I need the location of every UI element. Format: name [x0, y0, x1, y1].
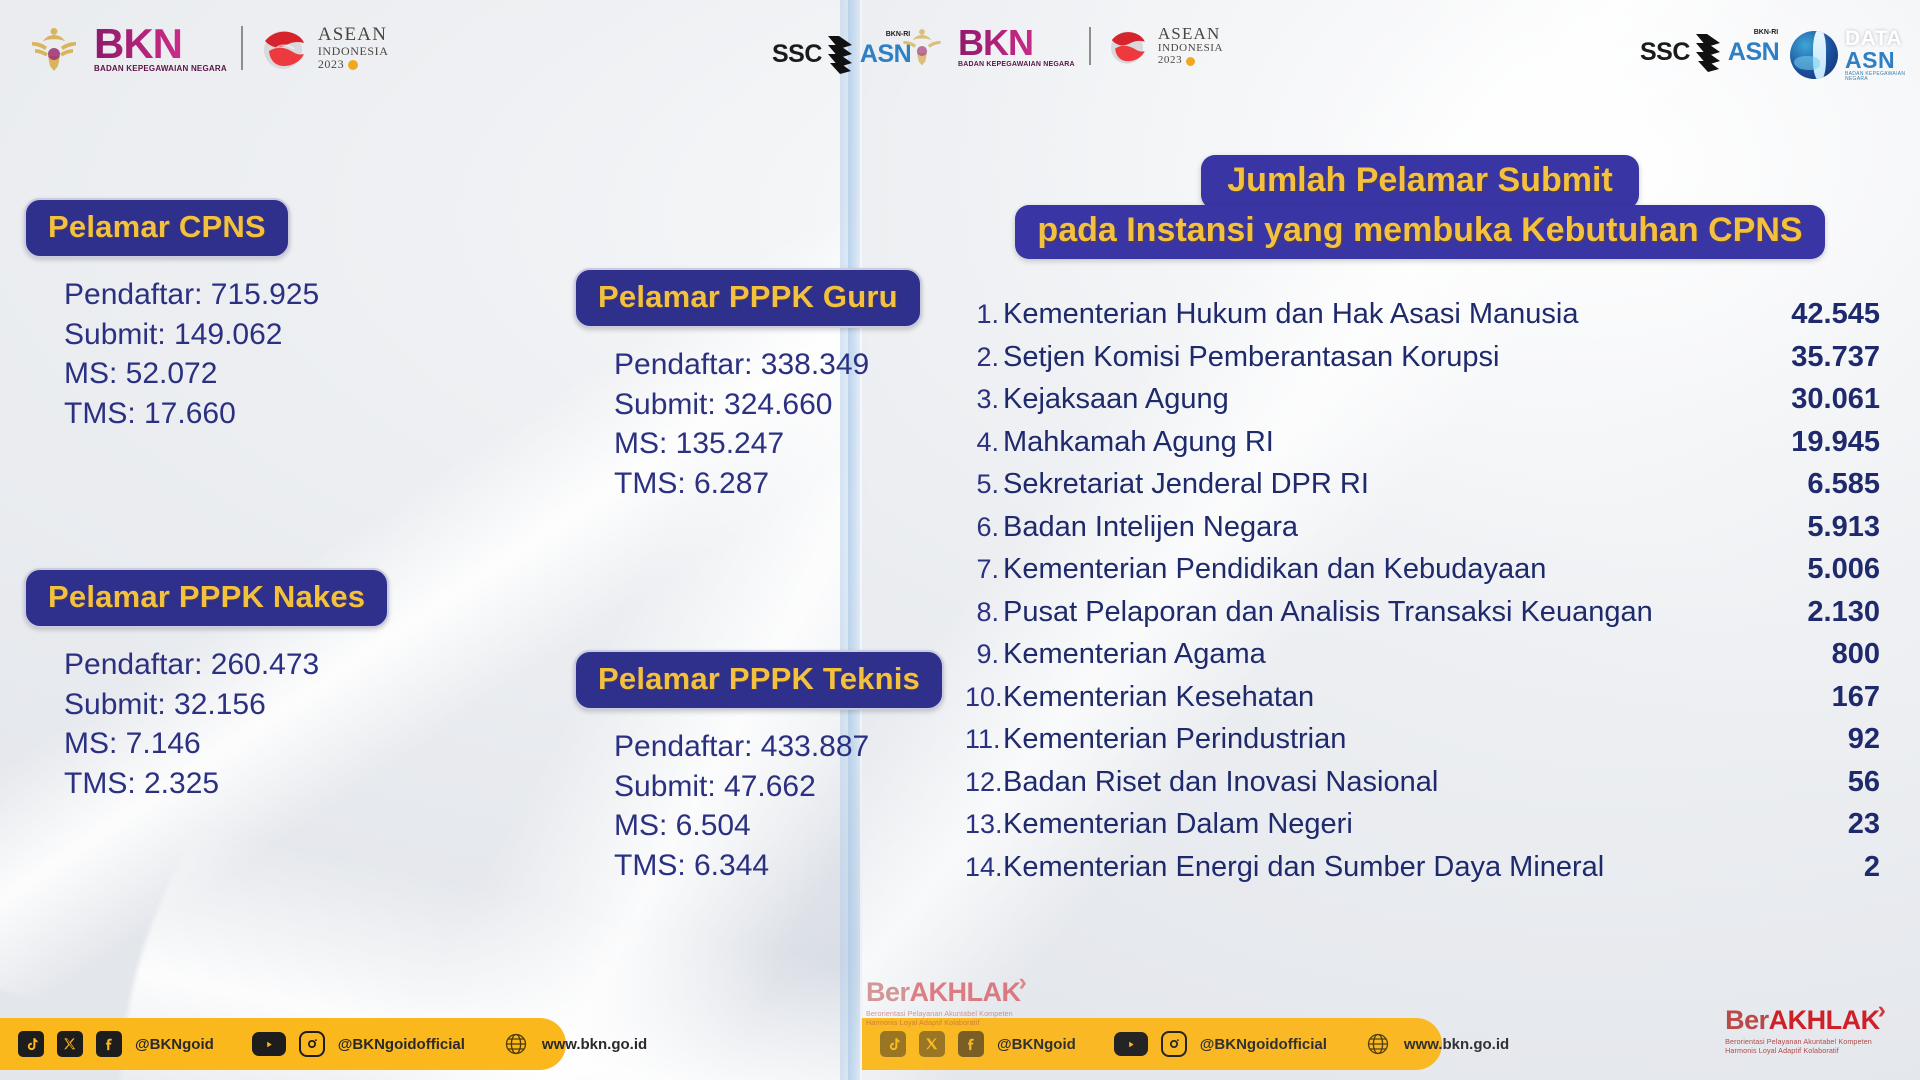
asean-mark-icon-center	[1105, 26, 1149, 66]
list-item-name: Kementerian Hukum dan Hak Asasi Manusia	[1003, 300, 1760, 329]
list-item-name: Mahkamah Agung RI	[1003, 428, 1760, 457]
list-item-rank: 14.	[965, 854, 1003, 881]
facebook-icon[interactable]	[96, 1031, 122, 1057]
list-item-value: 92	[1760, 725, 1880, 754]
stat-row-ms: MS: 7.146	[64, 724, 389, 764]
list-item-value: 5.006	[1760, 555, 1880, 584]
list-item-rank: 6.	[965, 514, 1003, 541]
list-item: 9. Kementerian Agama 800	[965, 640, 1880, 669]
infographic-poster: BKN BADAN KEPEGAWAIAN NEGARA ASEAN INDON…	[0, 0, 1920, 1080]
berakhlak-logo-right: Ber AKHLAK › Berorientasi Pelayanan Akun…	[1725, 1007, 1886, 1056]
footer-handle-primary: @BKNgoid	[997, 1036, 1076, 1053]
list-item-name: Kejaksaan Agung	[1003, 385, 1760, 414]
asean-line-1: ASEAN	[318, 25, 389, 46]
asean-year: 2023	[318, 58, 344, 71]
berakhlak-part-1: Ber	[1725, 1007, 1769, 1034]
institution-ranking-list: 1. Kementerian Hukum dan Hak Asasi Manus…	[965, 300, 1880, 895]
berakhlak-tagline-line-2: Harmonis Loyal Adaptif Kolaboratif	[1725, 1046, 1886, 1056]
list-item: 14. Kementerian Energi dan Sumber Daya M…	[965, 853, 1880, 882]
bkn-brand-subtitle-center: BADAN KEPEGAWAIAN NEGARA	[958, 61, 1075, 68]
list-item-name: Badan Riset dan Inovasi Nasional	[1003, 768, 1760, 797]
tiktok-icon[interactable]	[880, 1031, 906, 1057]
stat-row-ms: MS: 135.247	[614, 424, 922, 464]
list-item-value: 30.061	[1760, 385, 1880, 414]
berakhlak-part-1: Ber	[866, 979, 910, 1006]
stat-block-pppk-nakes: Pelamar PPPK Nakes Pendaftar: 260.473 Su…	[24, 568, 389, 803]
stat-block-pppk-guru: Pelamar PPPK Guru Pendaftar: 338.349 Sub…	[574, 268, 922, 503]
youtube-icon[interactable]	[252, 1032, 286, 1056]
list-item-rank: 3.	[965, 386, 1003, 413]
bkn-brand-subtitle: BADAN KEPEGAWAIAN NEGARA	[94, 65, 227, 73]
bkn-brand-text-center: BKN	[958, 25, 1075, 61]
tiktok-icon[interactable]	[18, 1031, 44, 1057]
globe-icon	[1790, 31, 1838, 79]
list-item: 7. Kementerian Pendidikan dan Kebudayaan…	[965, 555, 1880, 584]
ssc-chevron-icon	[824, 34, 858, 74]
list-item-value: 2.130	[1760, 598, 1880, 627]
list-item-value: 56	[1760, 768, 1880, 797]
footer-handle-primary: @BKNgoid	[135, 1036, 214, 1053]
data-asn-line-2: ASN	[1845, 49, 1920, 72]
stat-row-submit: Submit: 324.660	[614, 385, 922, 425]
stat-row-ms: MS: 6.504	[614, 806, 944, 846]
list-item: 6. Badan Intelijen Negara 5.913	[965, 513, 1880, 542]
asean-year-center: 2023	[1158, 55, 1182, 67]
data-asn-line-1: DATA	[1845, 28, 1920, 49]
list-item: 10. Kementerian Kesehatan 167	[965, 683, 1880, 712]
list-item-name: Kementerian Kesehatan	[1003, 683, 1760, 712]
stat-row-pendaftar: Pendaftar: 715.925	[64, 275, 319, 315]
right-panel-title: Jumlah Pelamar Submit pada Instansi yang…	[940, 155, 1900, 259]
list-item-name: Badan Intelijen Negara	[1003, 513, 1760, 542]
asn-text-wrapper-right: BKN-RI ASN	[1728, 38, 1779, 67]
asean-logo-center: ASEAN INDONESIA 2023	[1105, 25, 1223, 67]
list-item-value: 2	[1760, 853, 1880, 882]
list-item-value: 800	[1760, 640, 1880, 669]
ssc-bkn-ri-tag-right: BKN-RI	[1754, 29, 1779, 36]
list-item-value: 42.545	[1760, 300, 1880, 329]
list-item-value: 167	[1760, 683, 1880, 712]
stat-badge-guru: Pelamar PPPK Guru	[574, 268, 922, 328]
footer-website: www.bkn.go.id	[1404, 1036, 1509, 1053]
stat-row-tms: TMS: 6.344	[614, 846, 944, 886]
berakhlak-wordmark: Ber AKHLAK ›	[866, 979, 1027, 1006]
stat-rows-guru: Pendaftar: 338.349 Submit: 324.660 MS: 1…	[574, 345, 922, 503]
stat-row-ms: MS: 52.072	[64, 354, 319, 394]
stat-rows-teknis: Pendaftar: 433.887 Submit: 47.662 MS: 6.…	[574, 727, 944, 885]
ssc-asn-logo-right: SSC BKN-RI ASN	[1640, 32, 1779, 72]
stat-row-pendaftar: Pendaftar: 433.887	[614, 727, 944, 767]
footer-handle-secondary: @BKNgoidofficial	[1200, 1036, 1327, 1053]
stat-rows-nakes: Pendaftar: 260.473 Submit: 32.156 MS: 7.…	[24, 645, 389, 803]
stat-row-tms: TMS: 6.287	[614, 464, 922, 504]
berakhlak-tagline-line-2: Harmonis Loyal Adaptif Kolaboratif	[866, 1018, 1027, 1028]
stat-badge-nakes: Pelamar PPPK Nakes	[24, 568, 389, 628]
instagram-icon[interactable]	[1161, 1031, 1187, 1057]
list-item-value: 19.945	[1760, 428, 1880, 457]
stat-row-pendaftar: Pendaftar: 338.349	[614, 345, 922, 385]
header-data-asn: DATA ASN BADAN KEPEGAWAIAN NEGARA	[1790, 28, 1920, 82]
list-item-rank: 11.	[965, 726, 1003, 753]
asean-dot-icon-center	[1186, 57, 1195, 66]
list-item-rank: 2.	[965, 344, 1003, 371]
header: BKN BADAN KEPEGAWAIAN NEGARA ASEAN INDON…	[0, 0, 1920, 110]
facebook-icon[interactable]	[958, 1031, 984, 1057]
list-item-name: Kementerian Agama	[1003, 640, 1760, 669]
asean-mark-icon	[257, 25, 309, 71]
header-center-ssc-asn: SSC BKN-RI ASN	[772, 34, 911, 74]
chevron-up-icon: ›	[1878, 998, 1886, 1023]
asean-line-3-row: 2023	[318, 58, 389, 71]
berakhlak-part-2: AKHLAK	[1769, 1007, 1880, 1034]
header-left-logo-group: BKN BADAN KEPEGAWAIAN NEGARA ASEAN INDON…	[28, 22, 389, 74]
data-asn-logo: DATA ASN BADAN KEPEGAWAIAN NEGARA	[1790, 28, 1920, 82]
stat-title-guru: Pelamar PPPK Guru	[598, 279, 898, 314]
asean-line-1-center: ASEAN	[1158, 25, 1223, 43]
stat-row-pendaftar: Pendaftar: 260.473	[64, 645, 389, 685]
list-item-rank: 10.	[965, 684, 1003, 711]
website-globe-icon[interactable]	[503, 1031, 529, 1057]
footer-website: www.bkn.go.id	[542, 1036, 647, 1053]
list-item: 4. Mahkamah Agung RI 19.945	[965, 428, 1880, 457]
ssc-text-right: SSC	[1640, 38, 1690, 67]
right-panel-title-line-2-badge: pada Instansi yang membuka Kebutuhan CPN…	[1015, 205, 1824, 259]
stat-badge-teknis: Pelamar PPPK Teknis	[574, 650, 944, 710]
right-panel-title-line-2: pada Instansi yang membuka Kebutuhan CPN…	[1037, 211, 1802, 249]
bkn-wordmark-center: BKN BADAN KEPEGAWAIAN NEGARA	[958, 25, 1075, 68]
stat-rows-cpns: Pendaftar: 715.925 Submit: 149.062 MS: 5…	[24, 275, 319, 433]
list-item-name: Kementerian Dalam Negeri	[1003, 810, 1760, 839]
list-item-rank: 8.	[965, 599, 1003, 626]
instagram-icon[interactable]	[299, 1031, 325, 1057]
stat-title-nakes: Pelamar PPPK Nakes	[48, 579, 365, 614]
list-item-name: Kementerian Energi dan Sumber Daya Miner…	[1003, 853, 1760, 882]
berakhlak-wordmark: Ber AKHLAK ›	[1725, 1007, 1886, 1034]
asean-text-block: ASEAN INDONESIA 2023	[318, 25, 389, 71]
list-item-name: Pusat Pelaporan dan Analisis Transaksi K…	[1003, 598, 1760, 627]
x-twitter-icon[interactable]	[57, 1031, 83, 1057]
list-item: 13. Kementerian Dalam Negeri 23	[965, 810, 1880, 839]
stat-block-pelamar-cpns: Pelamar CPNS Pendaftar: 715.925 Submit: …	[24, 198, 319, 433]
list-item-rank: 1.	[965, 301, 1003, 328]
list-item-value: 23	[1760, 810, 1880, 839]
footer-bar-left: @BKNgoid @BKNgoidofficial www.bkn.go.id	[0, 1018, 566, 1070]
list-item-rank: 13.	[965, 811, 1003, 838]
stat-block-pppk-teknis: Pelamar PPPK Teknis Pendaftar: 433.887 S…	[574, 650, 944, 885]
logo-divider	[241, 26, 243, 70]
stat-row-tms: TMS: 17.660	[64, 394, 319, 434]
stat-row-submit: Submit: 149.062	[64, 315, 319, 355]
stat-title-teknis: Pelamar PPPK Teknis	[598, 661, 920, 696]
list-item-value: 6.585	[1760, 470, 1880, 499]
list-item: 3. Kejaksaan Agung 30.061	[965, 385, 1880, 414]
list-item-name: Kementerian Perindustrian	[1003, 725, 1760, 754]
right-panel-title-line-1: Jumlah Pelamar Submit	[1227, 161, 1612, 199]
ssc-text: SSC	[772, 40, 822, 69]
list-item-rank: 5.	[965, 471, 1003, 498]
stat-badge-cpns: Pelamar CPNS	[24, 198, 290, 258]
list-item-rank: 4.	[965, 429, 1003, 456]
stat-row-submit: Submit: 32.156	[64, 685, 389, 725]
garuda-icon-center	[900, 24, 944, 68]
berakhlak-logo-center: Ber AKHLAK › Berorientasi Pelayanan Akun…	[866, 979, 1027, 1028]
asean-text-block-center: ASEAN INDONESIA 2023	[1158, 25, 1223, 67]
asean-logo: ASEAN INDONESIA 2023	[257, 25, 389, 71]
youtube-icon[interactable]	[1114, 1032, 1148, 1056]
stat-row-submit: Submit: 47.662	[614, 767, 944, 807]
footer-handle-secondary: @BKNgoidofficial	[338, 1036, 465, 1053]
list-item: 2. Setjen Komisi Pemberantasan Korupsi 3…	[965, 343, 1880, 372]
overlay-seam-tint	[848, 0, 862, 1080]
data-asn-text: DATA ASN BADAN KEPEGAWAIAN NEGARA	[1845, 28, 1920, 82]
garuda-icon	[28, 22, 80, 74]
asean-line-3-row-center: 2023	[1158, 55, 1223, 67]
list-item-value: 5.913	[1760, 513, 1880, 542]
website-globe-icon[interactable]	[1365, 1031, 1391, 1057]
ssc-asn-logo-center: SSC BKN-RI ASN	[772, 34, 911, 74]
ssc-chevron-icon-right	[1692, 32, 1726, 72]
list-item-rank: 12.	[965, 769, 1003, 796]
asean-dot-icon	[348, 60, 358, 70]
header-right-ssc-asn: SSC BKN-RI ASN	[1640, 32, 1779, 72]
list-item: 1. Kementerian Hukum dan Hak Asasi Manus…	[965, 300, 1880, 329]
bkn-brand-text: BKN	[94, 23, 227, 65]
bkn-wordmark: BKN BADAN KEPEGAWAIAN NEGARA	[94, 23, 227, 73]
list-item-rank: 9.	[965, 641, 1003, 668]
list-item-rank: 7.	[965, 556, 1003, 583]
berakhlak-tagline-line-1: Berorientasi Pelayanan Akuntabel Kompete…	[866, 1009, 1027, 1019]
stat-title-cpns: Pelamar CPNS	[48, 209, 266, 244]
right-panel-title-line-1-badge: Jumlah Pelamar Submit	[1201, 155, 1638, 209]
x-twitter-icon[interactable]	[919, 1031, 945, 1057]
header-center-logo-group: BKN BADAN KEPEGAWAIAN NEGARA ASEAN INDON…	[900, 24, 1223, 68]
list-item-value: 35.737	[1760, 343, 1880, 372]
chevron-up-icon: ›	[1019, 970, 1027, 995]
stat-row-tms: TMS: 2.325	[64, 764, 389, 804]
list-item-name: Setjen Komisi Pemberantasan Korupsi	[1003, 343, 1760, 372]
asn-text-right: ASN	[1728, 38, 1779, 66]
data-asn-line-3: BADAN KEPEGAWAIAN NEGARA	[1845, 72, 1920, 82]
list-item: 12. Badan Riset dan Inovasi Nasional 56	[965, 768, 1880, 797]
list-item-name: Kementerian Pendidikan dan Kebudayaan	[1003, 555, 1760, 584]
list-item-name: Sekretariat Jenderal DPR RI	[1003, 470, 1760, 499]
list-item: 8. Pusat Pelaporan dan Analisis Transaks…	[965, 598, 1880, 627]
list-item: 11. Kementerian Perindustrian 92	[965, 725, 1880, 754]
list-item: 5. Sekretariat Jenderal DPR RI 6.585	[965, 470, 1880, 499]
berakhlak-tagline-line-1: Berorientasi Pelayanan Akuntabel Kompete…	[1725, 1037, 1886, 1047]
logo-divider-center	[1089, 27, 1091, 65]
berakhlak-part-2: AKHLAK	[910, 979, 1021, 1006]
